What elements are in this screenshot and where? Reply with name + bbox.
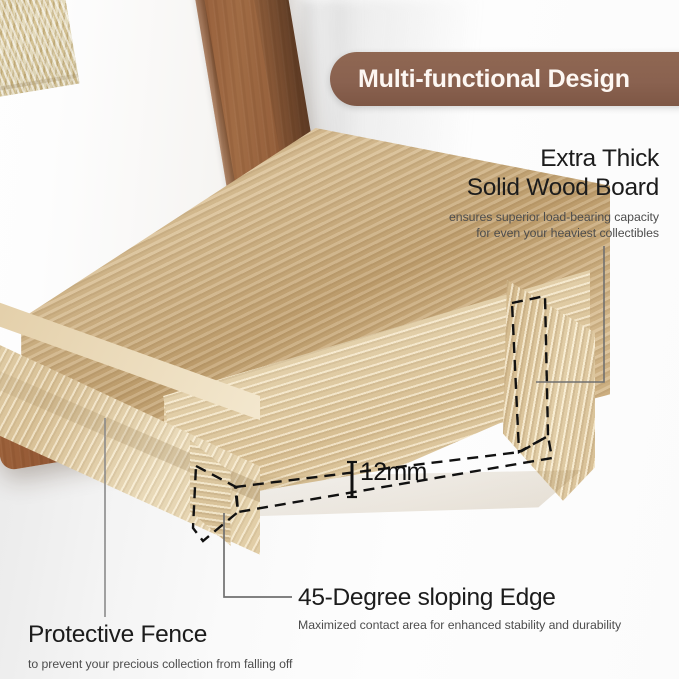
callout-title-line1: 45-Degree sloping Edge: [298, 583, 621, 612]
callout-title-line2: Solid Wood Board: [449, 173, 659, 202]
callout-sub-line2: for even your heaviest collectibles: [449, 225, 659, 241]
header-banner-label: Multi-functional Design: [330, 65, 630, 94]
product-infographic: Multi-functional Design Extra Thick Soli…: [0, 0, 679, 679]
callout-title-line1: Extra Thick: [449, 144, 659, 173]
callout-sub-line1: Maximized contact area for enhanced stab…: [298, 617, 621, 633]
callout-sub-line1: ensures superior load-bearing capacity: [449, 209, 659, 225]
callout-sub-line1: to prevent your precious collection from…: [28, 656, 292, 672]
callout-extra-thick-board: Extra Thick Solid Wood Board ensures sup…: [449, 144, 659, 241]
header-banner: Multi-functional Design: [330, 52, 679, 106]
callout-protective-fence: Protective Fence to prevent your preciou…: [28, 620, 292, 672]
callout-sloping-edge: 45-Degree sloping Edge Maximized contact…: [298, 583, 621, 633]
callout-title-line1: Protective Fence: [28, 620, 292, 649]
measurement-label: 12mm: [360, 458, 427, 487]
